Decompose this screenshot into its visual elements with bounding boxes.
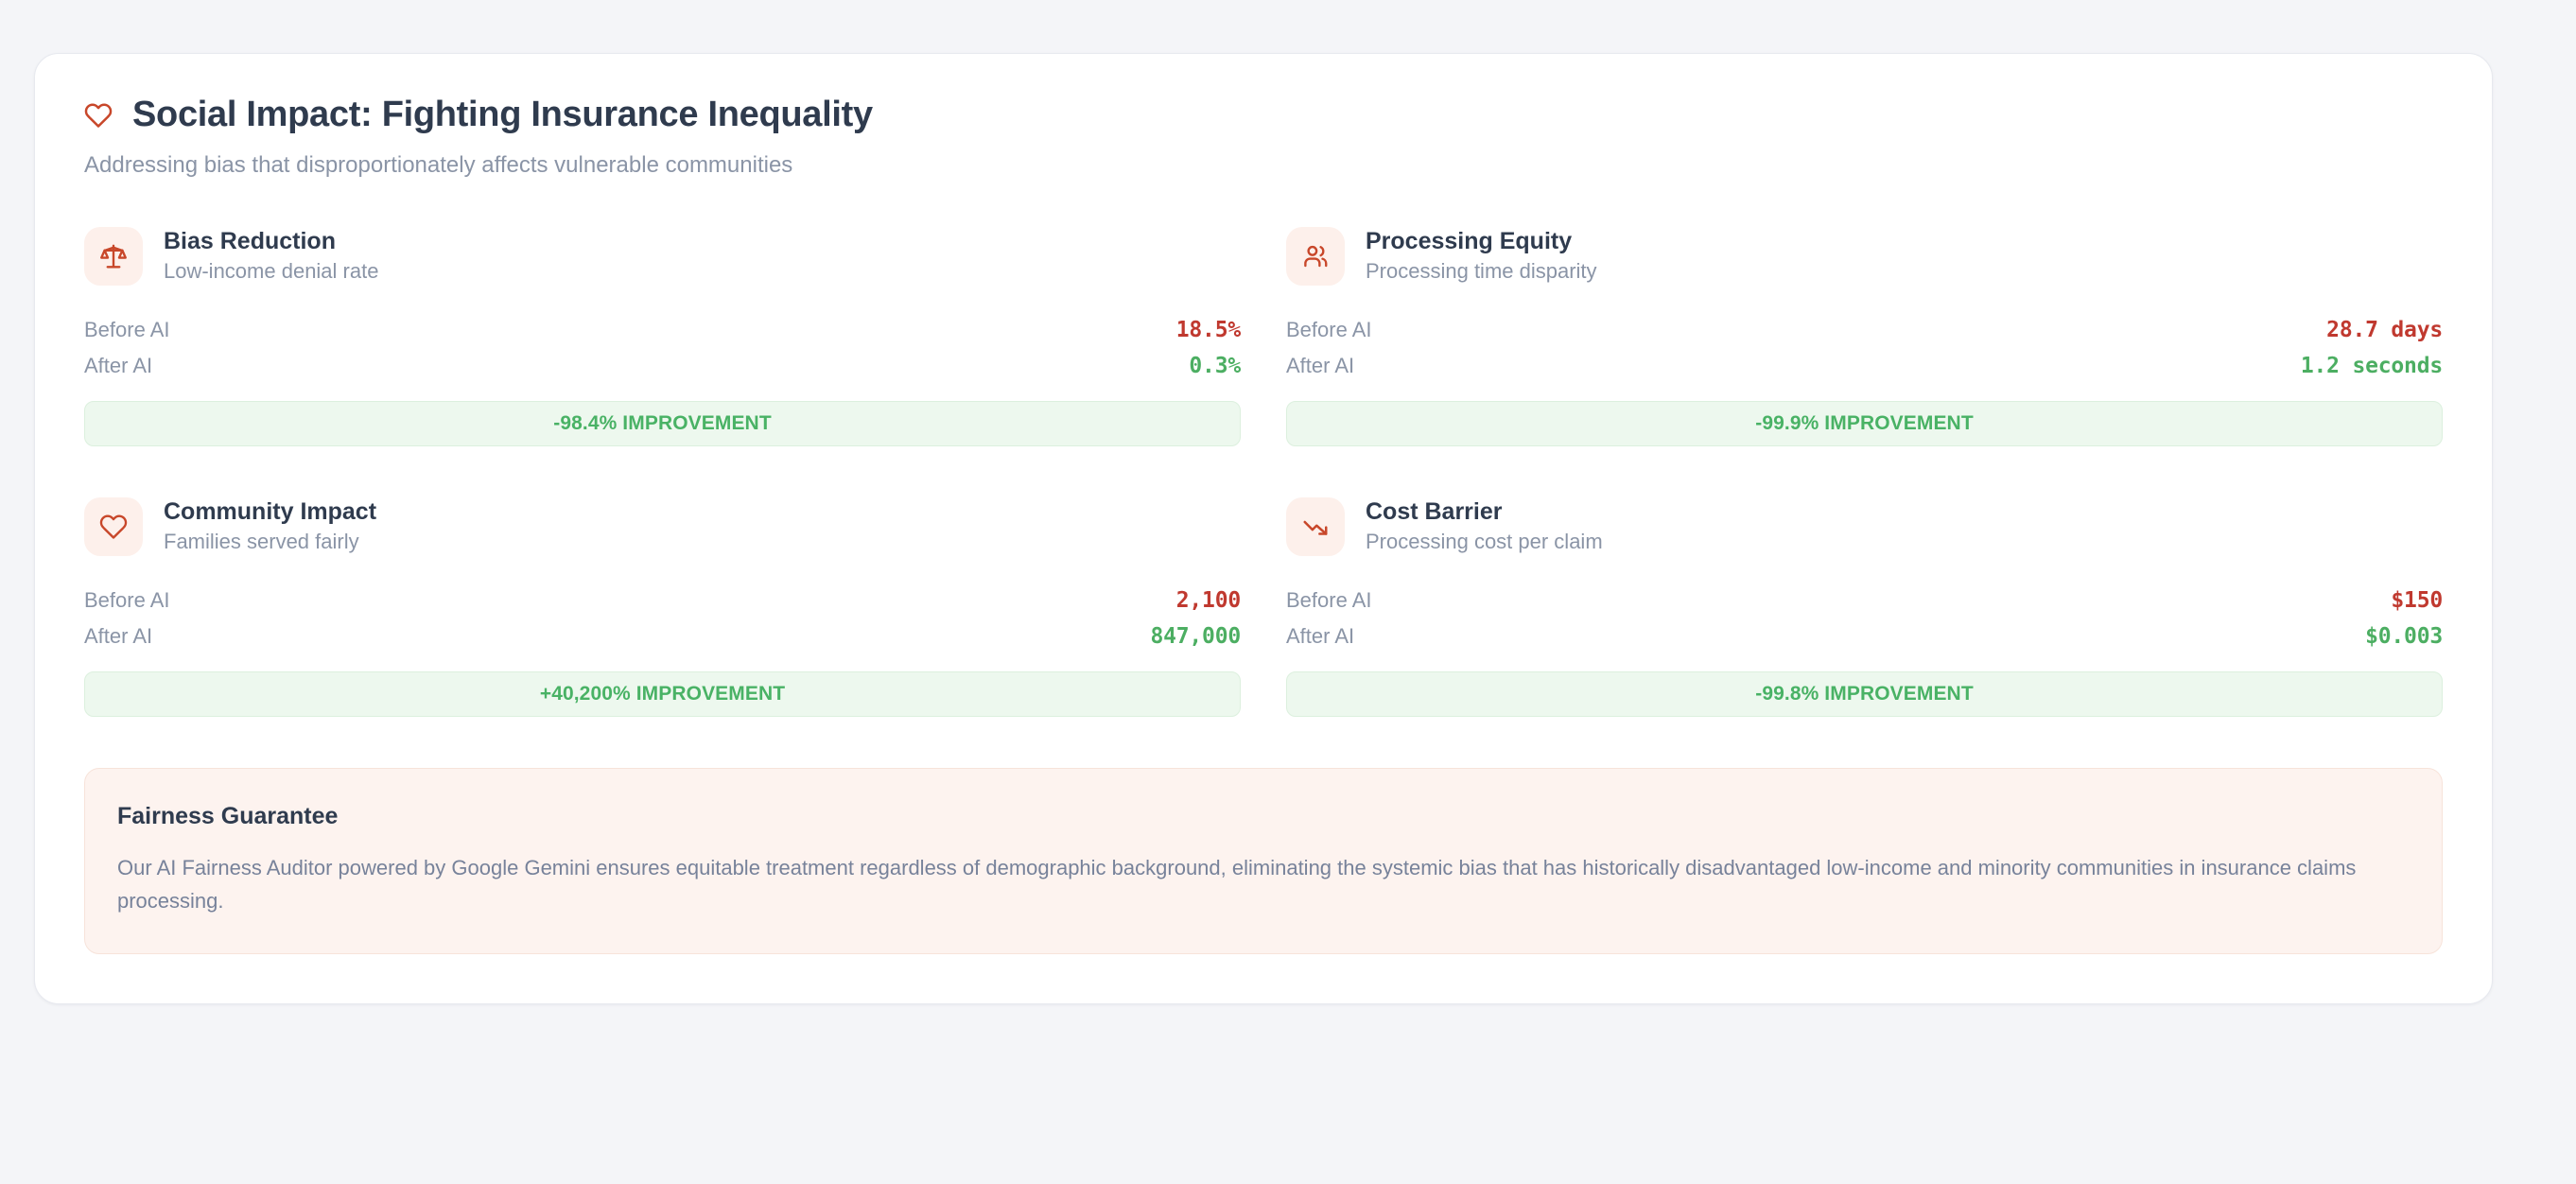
scales-icon — [99, 242, 128, 270]
heart-icon — [84, 101, 113, 130]
improvement-text: -99.9% IMPROVEMENT — [1755, 412, 1974, 435]
metric-row-before: Before AI 28.7 days — [1286, 312, 2443, 348]
metric-row-before: Before AI 18.5% — [84, 312, 1241, 348]
improvement-text: -99.8% IMPROVEMENT — [1755, 683, 1974, 705]
metric-description: Processing time disparity — [1366, 260, 1597, 283]
improvement-badge: -99.8% IMPROVEMENT — [1286, 671, 2443, 717]
after-value: $0.003 — [2365, 624, 2443, 649]
fairness-guarantee-body: Our AI Fairness Auditor powered by Googl… — [117, 851, 2410, 917]
metric-header: Cost Barrier Processing cost per claim — [1286, 497, 2443, 556]
before-value: 28.7 days — [2326, 318, 2443, 342]
page-subtitle: Addressing bias that disproportionately … — [84, 152, 2443, 180]
metric-card-cost-barrier: Cost Barrier Processing cost per claim B… — [1286, 494, 2443, 717]
page-root: Social Impact: Fighting Insurance Inequa… — [0, 0, 2576, 1184]
after-label: After AI — [84, 624, 152, 649]
after-label: After AI — [1286, 354, 1354, 378]
metric-row-after: After AI 847,000 — [84, 618, 1241, 654]
metric-row-after: After AI 1.2 seconds — [1286, 348, 2443, 384]
after-value: 0.3% — [1189, 354, 1241, 378]
metric-row-before: Before AI 2,100 — [84, 583, 1241, 618]
metric-titles: Cost Barrier Processing cost per claim — [1366, 499, 1603, 554]
metric-name: Processing Equity — [1366, 229, 1597, 255]
social-impact-panel: Social Impact: Fighting Insurance Inequa… — [34, 53, 2493, 1004]
metric-name: Cost Barrier — [1366, 499, 1603, 526]
metric-header: Community Impact Families served fairly — [84, 497, 1241, 556]
after-label: After AI — [84, 354, 152, 378]
metric-card-community-impact: Community Impact Families served fairly … — [84, 494, 1241, 717]
improvement-text: -98.4% IMPROVEMENT — [553, 412, 772, 435]
metric-header: Bias Reduction Low-income denial rate — [84, 227, 1241, 286]
metric-name: Community Impact — [164, 499, 376, 526]
trending-down-icon — [1301, 513, 1330, 541]
users-icon — [1301, 242, 1330, 270]
metric-titles: Processing Equity Processing time dispar… — [1366, 229, 1597, 284]
metric-header: Processing Equity Processing time dispar… — [1286, 227, 2443, 286]
fairness-guarantee-panel: Fairness Guarantee Our AI Fairness Audit… — [84, 768, 2443, 954]
metric-icon-badge — [1286, 227, 1345, 286]
metric-titles: Community Impact Families served fairly — [164, 499, 376, 554]
heart-icon — [99, 513, 128, 541]
fairness-guarantee-title: Fairness Guarantee — [117, 803, 2410, 830]
before-label: Before AI — [1286, 318, 1372, 342]
before-label: Before AI — [84, 588, 170, 613]
metric-row-before: Before AI $150 — [1286, 583, 2443, 618]
after-value: 847,000 — [1150, 624, 1241, 649]
metric-row-after: After AI $0.003 — [1286, 618, 2443, 654]
improvement-badge: -99.9% IMPROVEMENT — [1286, 401, 2443, 446]
metric-description: Low-income denial rate — [164, 260, 378, 283]
metric-icon-badge — [84, 497, 143, 556]
metric-description: Processing cost per claim — [1366, 531, 1603, 553]
before-value: 2,100 — [1176, 588, 1241, 613]
metric-description: Families served fairly — [164, 531, 376, 553]
before-label: Before AI — [1286, 588, 1372, 613]
metric-icon-badge — [84, 227, 143, 286]
improvement-badge: -98.4% IMPROVEMENT — [84, 401, 1241, 446]
page-title: Social Impact: Fighting Insurance Inequa… — [132, 96, 873, 135]
metric-card-bias-reduction: Bias Reduction Low-income denial rate Be… — [84, 223, 1241, 446]
after-label: After AI — [1286, 624, 1354, 649]
metric-name: Bias Reduction — [164, 229, 378, 255]
before-value: 18.5% — [1176, 318, 1241, 342]
improvement-text: +40,200% IMPROVEMENT — [540, 683, 785, 705]
title-row: Social Impact: Fighting Insurance Inequa… — [84, 96, 2443, 135]
improvement-badge: +40,200% IMPROVEMENT — [84, 671, 1241, 717]
metric-titles: Bias Reduction Low-income denial rate — [164, 229, 378, 284]
after-value: 1.2 seconds — [2301, 354, 2443, 378]
before-value: $150 — [2391, 588, 2443, 613]
metric-row-after: After AI 0.3% — [84, 348, 1241, 384]
metric-icon-badge — [1286, 497, 1345, 556]
panel-header: Social Impact: Fighting Insurance Inequa… — [84, 96, 2443, 180]
metric-grid: Bias Reduction Low-income denial rate Be… — [84, 223, 2443, 717]
metric-card-processing-equity: Processing Equity Processing time dispar… — [1286, 223, 2443, 446]
before-label: Before AI — [84, 318, 170, 342]
